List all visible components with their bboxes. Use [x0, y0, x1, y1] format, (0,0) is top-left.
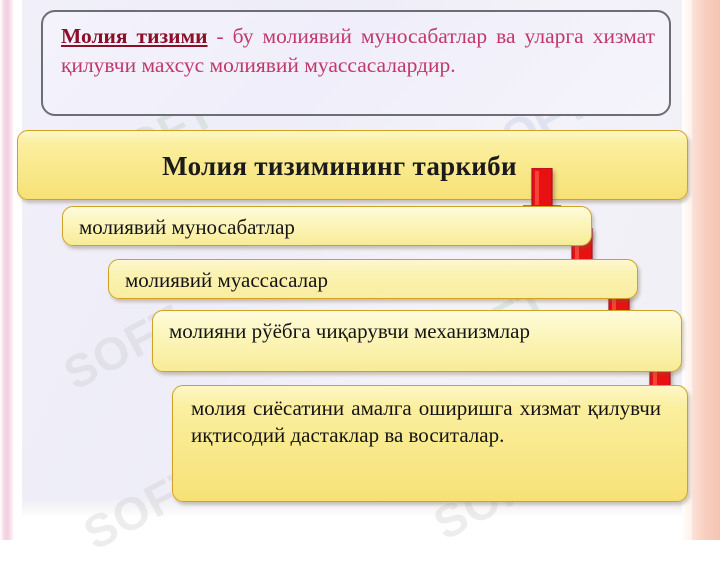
list-item-1-label: молиявий муносабатлар	[79, 214, 575, 241]
definition-box: Молия тизими - бу молиявий муносабатлар …	[41, 10, 671, 116]
section-header-box: Молия тизимининг таркиби	[17, 130, 688, 200]
slide-left-edge-strip	[0, 0, 14, 540]
list-item-3-box: молияни рўёбга чиқарувчи механизмлар	[152, 310, 682, 372]
list-item-2-box: молиявий муассасалар	[108, 259, 638, 299]
slide-right-edge-strip	[692, 0, 720, 540]
definition-paragraph: Молия тизими - бу молиявий муносабатлар …	[61, 22, 655, 79]
list-item-1-box: молиявий муносабатлар	[62, 206, 592, 246]
list-item-4-box: молия сиёсатини амалга оширишга хизмат қ…	[172, 385, 688, 502]
list-item-3-label: молияни рўёбга чиқарувчи механизмлар	[169, 318, 665, 345]
slide-canvas: SOFT SOFT SOFT SOFT SOFT SOFT Молия тизи…	[0, 0, 720, 540]
list-item-2-label: молиявий муассасалар	[125, 267, 621, 294]
page-title: Молия тизимининг таркиби	[18, 131, 687, 201]
definition-term: Молия тизими	[61, 24, 208, 48]
list-item-4-label: молия сиёсатини амалга оширишга хизмат қ…	[191, 395, 661, 450]
slide-bottom-fade	[22, 500, 688, 518]
